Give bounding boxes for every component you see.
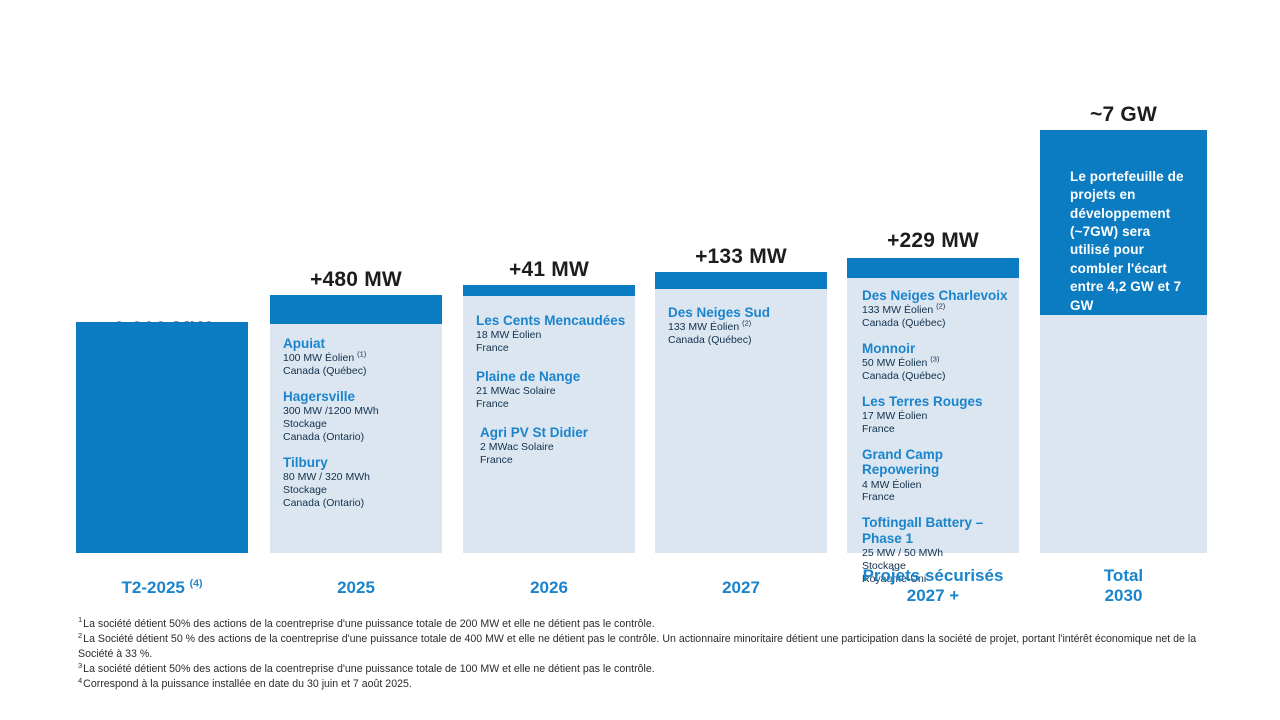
project-capacity: 133 MW Éolien [862, 304, 933, 316]
project-capacity: 100 MW Éolien [283, 352, 354, 364]
bar-segment-light: Des Neiges Charlevoix 133 MW Éolien (2) … [847, 278, 1019, 553]
bar-segment-solid: Le portefeuille de projets en développem… [1040, 130, 1207, 315]
column-category-label: 2026 [463, 578, 635, 598]
project-list: Des Neiges Sud 133 MW Éolien (2) Canada … [668, 305, 818, 347]
chart-column-total-2030: ~7 GW Le portefeuille de projets en déve… [1040, 0, 1207, 610]
project-location: Canada (Québec) [862, 370, 1010, 383]
column-value-label: +41 MW [463, 258, 635, 282]
footnote-marker: 2 [78, 631, 82, 640]
project-detail: 50 MW Éolien (3) [862, 357, 1010, 370]
category-text-line2: 2027 + [847, 586, 1019, 606]
project-location: France [862, 423, 1010, 436]
list-item: Les Cents Mencaudées 18 MW Éolien France [476, 313, 626, 355]
bar-segment-light: Les Cents Mencaudées 18 MW Éolien France… [463, 296, 635, 553]
footnote-marker: 4 [78, 676, 82, 685]
project-location: Canada (Ontario) [283, 431, 433, 444]
column-bar: Des Neiges Sud 133 MW Éolien (2) Canada … [655, 272, 827, 553]
column-category-label: Total 2030 [1040, 566, 1207, 606]
project-name: Les Terres Rouges [862, 394, 1010, 409]
project-name: Hagersville [283, 389, 433, 404]
project-capacity: 300 MW /1200 MWh [283, 405, 433, 418]
bar-segment-light: Des Neiges Sud 133 MW Éolien (2) Canada … [655, 289, 827, 553]
project-location: France [476, 342, 626, 355]
project-capacity: 21 MWac Solaire [476, 385, 626, 398]
footnote-text: La société détient 50% des actions de la… [83, 663, 655, 675]
column-category-label: 2027 [655, 578, 827, 598]
chart-column-t2-2025: 3 303 MW T2-2025 (4) [76, 0, 248, 610]
project-capacity: 4 MW Éolien [862, 479, 1010, 492]
list-item: Monnoir 50 MW Éolien (3) Canada (Québec) [862, 341, 1010, 383]
project-location: Canada (Ontario) [283, 497, 433, 510]
footnote-marker: 3 [78, 661, 82, 670]
column-bar: Apuiat 100 MW Éolien (1) Canada (Québec)… [270, 295, 442, 553]
footnote-text: La Société détient 50 % des actions de l… [78, 633, 1196, 660]
project-location: France [476, 398, 626, 411]
column-value-label: ~7 GW [1040, 103, 1207, 127]
project-type: Stockage [283, 418, 433, 431]
bar-segment-solid [76, 322, 248, 553]
project-location: Canada (Québec) [862, 317, 1010, 330]
footnote-item: 4Correspond à la puissance installée en … [78, 677, 1208, 692]
bar-segment-solid [847, 258, 1019, 278]
project-name: Agri PV St Didier [480, 425, 626, 440]
project-name: Les Cents Mencaudées [476, 313, 626, 328]
column-bar: Le portefeuille de projets en développem… [1040, 130, 1207, 553]
project-capacity: 18 MW Éolien [476, 329, 626, 342]
list-item: Des Neiges Charlevoix 133 MW Éolien (2) … [862, 288, 1010, 330]
list-item: Hagersville 300 MW /1200 MWh Stockage Ca… [283, 389, 433, 444]
bar-segment-light [1040, 315, 1207, 553]
chart-column-2027: +133 MW Des Neiges Sud 133 MW Éolien (2)… [655, 0, 827, 610]
bar-segment-solid [270, 295, 442, 324]
project-list: Apuiat 100 MW Éolien (1) Canada (Québec)… [283, 336, 433, 510]
project-footnote-marker: (2) [742, 319, 751, 328]
category-text: Projets sécurisés [847, 566, 1019, 586]
list-item: Grand Camp Repowering 4 MW Éolien France [862, 447, 1010, 504]
category-text: T2-2025 [122, 578, 185, 597]
column-bar: Des Neiges Charlevoix 133 MW Éolien (2) … [847, 258, 1019, 553]
list-item: Plaine de Nange 21 MWac Solaire France [476, 369, 626, 411]
project-detail: 133 MW Éolien (2) [862, 304, 1010, 317]
column-value-label: +133 MW [655, 245, 827, 269]
project-location: Canada (Québec) [668, 334, 818, 347]
project-name: Tilbury [283, 455, 433, 470]
callout-text: Le portefeuille de projets en développem… [1070, 168, 1189, 315]
footnote-marker: 1 [78, 615, 82, 624]
bar-segment-solid [463, 285, 635, 296]
project-capacity: 50 MW Éolien [862, 357, 927, 369]
project-list: Les Cents Mencaudées 18 MW Éolien France… [476, 313, 626, 467]
footnote-item: 2La Société détient 50 % des actions de … [78, 632, 1208, 662]
project-footnote-marker: (1) [357, 350, 366, 359]
project-location: France [480, 454, 626, 467]
footnote-item: 1La société détient 50% des actions de l… [78, 617, 1208, 632]
footnote-item: 3La société détient 50% des actions de l… [78, 662, 1208, 677]
list-item: Des Neiges Sud 133 MW Éolien (2) Canada … [668, 305, 818, 347]
chart-column-2025: +480 MW Apuiat 100 MW Éolien (1) Canada … [270, 0, 442, 610]
project-name: Plaine de Nange [476, 369, 626, 384]
project-capacity: 2 MWac Solaire [480, 441, 626, 454]
category-footnote-marker: (4) [190, 577, 203, 589]
column-bar: Les Cents Mencaudées 18 MW Éolien France… [463, 285, 635, 553]
project-capacity: 25 MW / 50 MWh [862, 547, 1010, 560]
list-item: Apuiat 100 MW Éolien (1) Canada (Québec) [283, 336, 433, 378]
bar-segment-light: Apuiat 100 MW Éolien (1) Canada (Québec)… [270, 324, 442, 553]
project-capacity: 17 MW Éolien [862, 410, 1010, 423]
column-value-label: +480 MW [270, 268, 442, 292]
footnote-text: Correspond à la puissance installée en d… [83, 678, 412, 690]
project-location: France [862, 491, 1010, 504]
waterfall-chart: 3 303 MW T2-2025 (4) +480 MW Apuiat 100 … [0, 0, 1280, 610]
project-capacity: 80 MW / 320 MWh [283, 471, 433, 484]
footnotes-block: 1La société détient 50% des actions de l… [78, 617, 1208, 692]
project-name: Toftingall Battery – Phase 1 [862, 515, 1010, 546]
footnote-text: La société détient 50% des actions de la… [83, 618, 655, 630]
project-detail: 133 MW Éolien (2) [668, 321, 818, 334]
project-detail: 100 MW Éolien (1) [283, 352, 433, 365]
project-footnote-marker: (3) [930, 355, 939, 364]
column-value-label: +229 MW [847, 229, 1019, 253]
chart-column-2026: +41 MW Les Cents Mencaudées 18 MW Éolien… [463, 0, 635, 610]
list-item: Tilbury 80 MW / 320 MWh Stockage Canada … [283, 455, 433, 510]
list-item: Agri PV St Didier 2 MWac Solaire France [476, 425, 626, 467]
project-capacity: 133 MW Éolien [668, 321, 739, 333]
column-category-label: 2025 [270, 578, 442, 598]
project-list: Des Neiges Charlevoix 133 MW Éolien (2) … [862, 288, 1010, 585]
column-bar [76, 322, 248, 553]
project-name: Grand Camp Repowering [862, 447, 1010, 478]
column-category-label: Projets sécurisés 2027 + [847, 566, 1019, 606]
bar-segment-solid [655, 272, 827, 289]
list-item: Les Terres Rouges 17 MW Éolien France [862, 394, 1010, 436]
category-text: Total [1040, 566, 1207, 586]
column-category-label: T2-2025 (4) [76, 578, 248, 598]
chart-column-projets-securises: +229 MW Des Neiges Charlevoix 133 MW Éol… [847, 0, 1019, 610]
project-location: Canada (Québec) [283, 365, 433, 378]
project-footnote-marker: (2) [936, 302, 945, 311]
project-type: Stockage [283, 484, 433, 497]
category-text-line2: 2030 [1040, 586, 1207, 606]
